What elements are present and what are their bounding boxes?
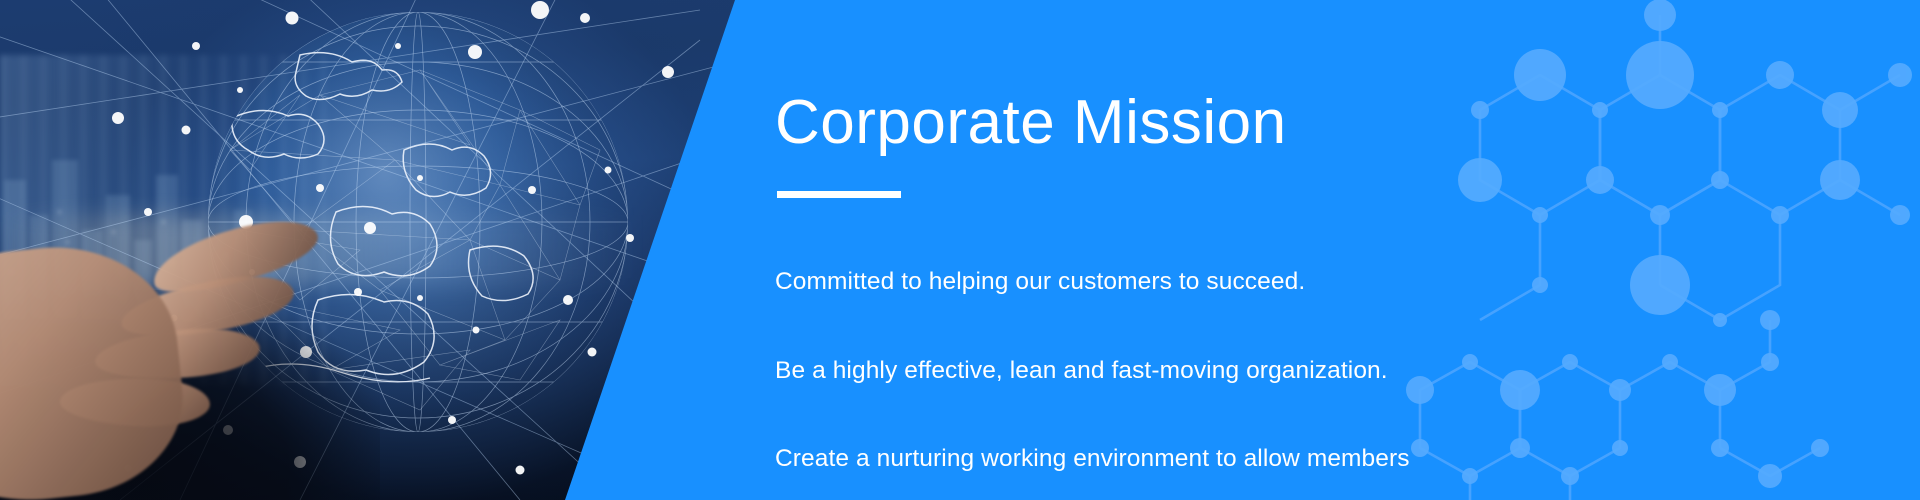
mission-statement: Committed to helping our customers to su…: [775, 208, 1410, 500]
page-title: Corporate Mission: [775, 90, 1287, 155]
mission-line: Create a nurturing working environment t…: [775, 444, 1410, 474]
corporate-mission-banner: Corporate Mission Committed to helping o…: [0, 0, 1920, 500]
mission-line: Be a highly effective, lean and fast-mov…: [775, 356, 1410, 386]
title-divider: [777, 191, 901, 198]
mission-line: Committed to helping our customers to su…: [775, 267, 1410, 297]
banner-content: Corporate Mission Committed to helping o…: [775, 0, 1675, 500]
